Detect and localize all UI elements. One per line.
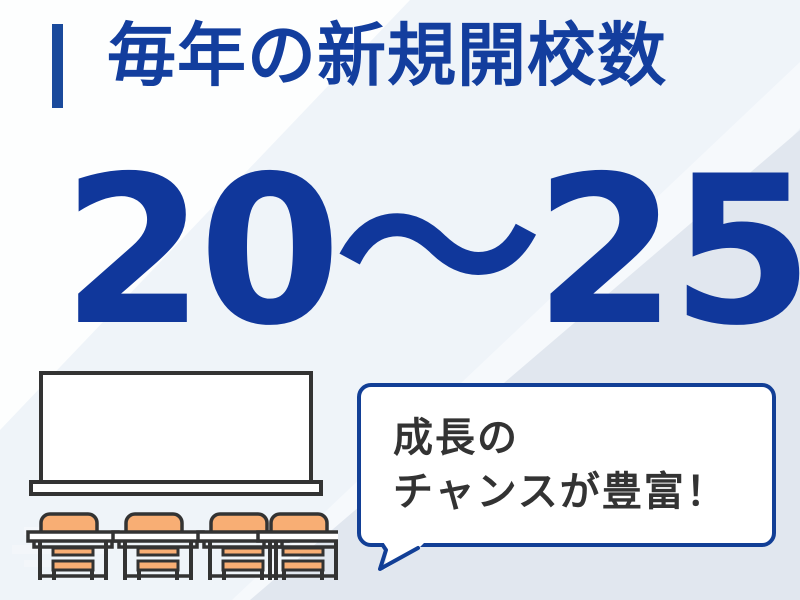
desk-top	[28, 532, 118, 541]
speech-bubble-line-2: チャンスが豊富！	[393, 465, 772, 519]
promo-banner: 毎年の新規開校数 20〜25 校	[0, 0, 800, 600]
chair-seat	[283, 561, 323, 570]
chair-seat	[223, 561, 263, 570]
desk-top	[113, 532, 203, 541]
speech-bubble-tail	[378, 543, 426, 571]
student-desk-1	[28, 514, 118, 580]
chair-slat-upper	[53, 548, 93, 555]
classroom-illustration	[18, 360, 338, 580]
vertical-accent-bar	[52, 24, 63, 108]
chalk-tray	[31, 482, 321, 494]
desk-row	[28, 514, 338, 580]
student-desk-4	[258, 514, 338, 580]
student-desk-2	[113, 514, 203, 580]
page-title: 毎年の新規開校数	[107, 22, 667, 91]
desk-top	[258, 532, 338, 541]
page-title-group: 毎年の新規開校数	[52, 22, 667, 112]
chair-slat-upper	[138, 548, 178, 555]
chair-seat	[53, 561, 93, 570]
chair-slat-upper	[223, 548, 263, 555]
speech-bubble-line-1: 成長の	[393, 411, 772, 465]
chair-slat-upper	[283, 548, 323, 555]
stat-block: 20〜25 校	[62, 150, 800, 355]
chair-seat	[138, 561, 178, 570]
speech-bubble: 成長の チャンスが豊富！	[357, 383, 776, 547]
stat-value: 20〜25	[62, 150, 800, 355]
whiteboard-panel	[41, 373, 311, 483]
